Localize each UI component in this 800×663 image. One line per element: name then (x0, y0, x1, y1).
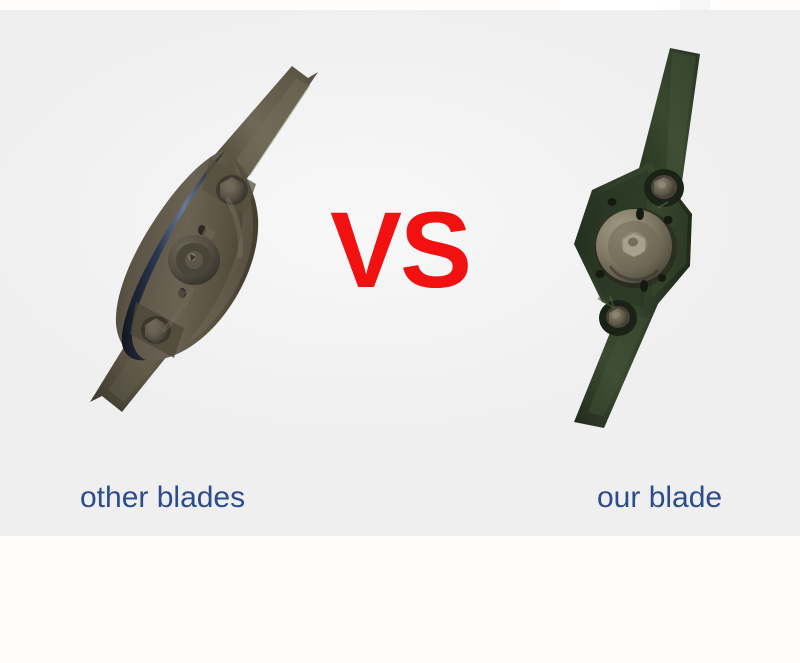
other-blade-image (60, 40, 340, 440)
our-blade-upper-bolt (644, 169, 684, 207)
our-blade-hole-3 (636, 208, 644, 220)
other-blade-center-hub (168, 235, 220, 285)
blade-stage (0, 0, 800, 663)
our-blade-hole-1 (608, 198, 617, 206)
our-blade-image (540, 30, 760, 450)
our-blade-lower-bolt (599, 300, 637, 336)
our-blade-hole-6 (658, 274, 666, 282)
other-blade-upper-bolt (216, 175, 248, 205)
other-blade-graphic (60, 40, 340, 440)
vs-label: VS (330, 196, 470, 304)
our-blade-hole-2 (664, 216, 673, 224)
caption-our-blade: our blade (597, 481, 722, 515)
our-blade-graphic (540, 30, 760, 450)
our-blade-hole-5 (640, 280, 648, 292)
caption-other-blades: other blades (80, 481, 245, 515)
product-comparison-image: VS other blades our blade Spiral mulcher… (0, 0, 800, 663)
our-blade-hole-4 (596, 270, 605, 278)
